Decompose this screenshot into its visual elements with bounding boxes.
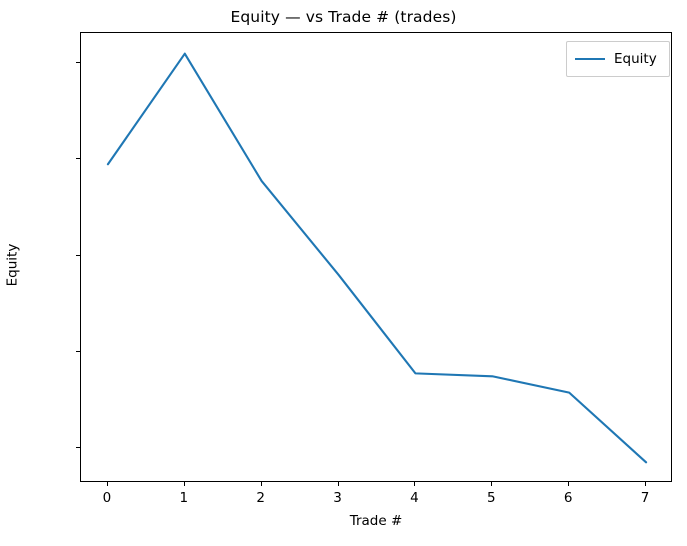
plot-svg [81, 33, 673, 483]
legend-entry-label: Equity [614, 51, 657, 67]
x-tick-label: 3 [333, 490, 342, 506]
chart-title: Equity — vs Trade # (trades) [0, 8, 687, 26]
x-tick-label: 2 [256, 490, 265, 506]
x-tick-label: 0 [103, 490, 112, 506]
x-tick-label: 6 [564, 490, 573, 506]
y-axis-label: Equity [4, 244, 20, 287]
x-tick-label: 7 [641, 490, 650, 506]
x-tick-label: 1 [179, 490, 188, 506]
chart-figure: Equity — vs Trade # (trades) Equity Trad… [0, 0, 687, 546]
plot-area [80, 32, 672, 482]
x-axis-label: Trade # [80, 513, 672, 529]
equity-line-series [108, 54, 646, 463]
legend: Equity [566, 41, 670, 77]
x-tick-label: 4 [410, 490, 419, 506]
legend-line-swatch [575, 58, 605, 60]
x-tick-label: 5 [487, 490, 496, 506]
